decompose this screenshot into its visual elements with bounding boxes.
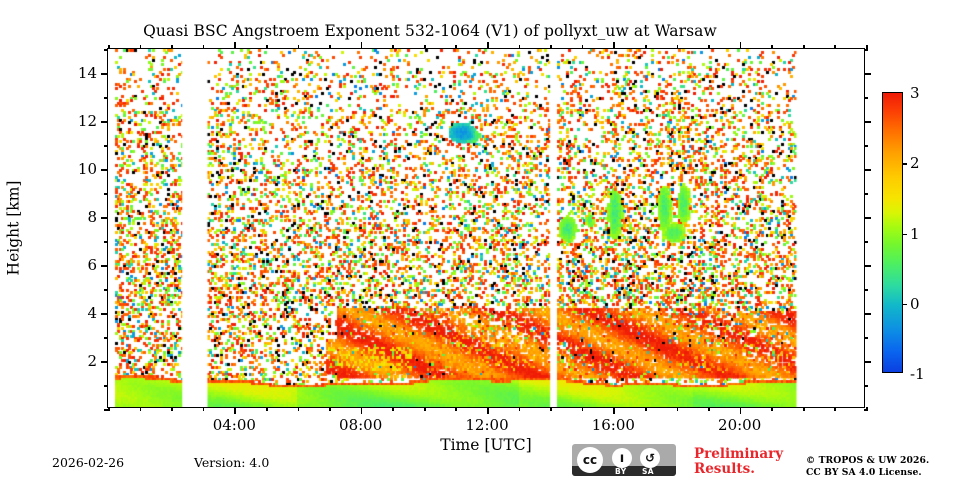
x-minor-tick [298, 407, 300, 411]
creative-commons-badge[interactable]: cc ı ↺ BY SA [572, 444, 676, 476]
y-major-tick-right [864, 361, 871, 363]
x-minor-tick-top [866, 45, 868, 49]
x-minor-tick [582, 407, 584, 411]
x-tick-label: 20:00 [718, 416, 761, 434]
x-minor-tick [803, 407, 805, 411]
x-minor-tick-top [803, 45, 805, 49]
x-minor-tick [140, 407, 142, 411]
x-minor-tick-top [645, 45, 647, 49]
x-minor-tick-top [455, 45, 457, 49]
copyright-notice: © TROPOS & UW 2026. CC BY SA 4.0 License… [806, 455, 929, 478]
colorbar-tick [902, 304, 907, 305]
chart-title: Quasi BSC Angstroem Exponent 532-1064 (V… [0, 22, 860, 40]
colorbar-tick-label: 0 [910, 295, 920, 313]
y-minor-tick-right [864, 145, 868, 147]
y-minor-tick-right [864, 241, 868, 243]
x-minor-tick [424, 407, 426, 411]
figure-canvas: Quasi BSC Angstroem Exponent 532-1064 (V… [0, 0, 960, 480]
x-minor-tick-top [708, 45, 710, 49]
footer-version: Version: 4.0 [194, 455, 269, 470]
copyright-line-2: CC BY SA 4.0 License. [806, 467, 929, 479]
colorbar-tick-label: -1 [910, 365, 925, 383]
x-major-tick [361, 407, 363, 414]
x-tick-label: 16:00 [592, 416, 635, 434]
x-major-tick-top [613, 42, 615, 49]
x-minor-tick-top [519, 45, 521, 49]
x-minor-tick [455, 407, 457, 411]
y-minor-tick [104, 193, 108, 195]
x-minor-tick [645, 407, 647, 411]
y-major-tick-right [864, 265, 871, 267]
y-minor-tick [104, 385, 108, 387]
cc-sa-label: SA [642, 467, 654, 476]
cc-logo-icon: cc [577, 447, 603, 473]
heatmap-clip [108, 49, 864, 407]
colorbar-tick-label: 1 [910, 225, 920, 243]
y-tick-label: 8 [87, 208, 97, 226]
x-minor-tick [392, 407, 394, 411]
x-major-tick-top [361, 42, 363, 49]
y-minor-tick-right [864, 193, 868, 195]
y-tick-label: 14 [78, 64, 97, 82]
copyright-line-1: © TROPOS & UW 2026. [806, 455, 929, 467]
y-major-tick-right [864, 169, 871, 171]
y-minor-tick [104, 289, 108, 291]
heatmap-canvas [108, 49, 864, 407]
y-major-tick-right [864, 73, 871, 75]
x-major-tick-top [234, 42, 236, 49]
x-major-tick [487, 407, 489, 414]
y-minor-tick [104, 241, 108, 243]
y-tick-label: 4 [87, 304, 97, 322]
x-minor-tick [171, 407, 173, 411]
x-minor-tick-top [424, 45, 426, 49]
y-major-tick [101, 361, 108, 363]
y-minor-tick [104, 145, 108, 147]
y-minor-tick [104, 337, 108, 339]
y-minor-tick-right [864, 289, 868, 291]
x-minor-tick [866, 407, 868, 411]
x-major-tick [740, 407, 742, 414]
colorbar-tick-label: 3 [910, 84, 920, 102]
x-minor-tick [519, 407, 521, 411]
x-minor-tick [203, 407, 205, 411]
x-tick-label: 04:00 [213, 416, 256, 434]
y-major-tick [101, 169, 108, 171]
x-minor-tick [771, 407, 773, 411]
x-major-tick [613, 407, 615, 414]
x-minor-tick-top [329, 45, 331, 49]
colorbar-tick [902, 234, 907, 235]
y-tick-label: 10 [78, 160, 97, 178]
y-major-tick-right [864, 121, 871, 123]
y-major-tick-right [864, 313, 871, 315]
x-major-tick-top [487, 42, 489, 49]
y-minor-tick-right [864, 49, 868, 51]
x-minor-tick [329, 407, 331, 411]
y-major-tick [101, 121, 108, 123]
x-minor-tick-top [203, 45, 205, 49]
x-tick-label: 08:00 [339, 416, 382, 434]
x-minor-tick-top [550, 45, 552, 49]
y-axis-title: Height [km] [0, 48, 26, 408]
y-minor-tick-right [864, 97, 868, 99]
y-minor-tick-right [864, 337, 868, 339]
colorbar-tick-label: 2 [910, 154, 920, 172]
y-major-tick [101, 73, 108, 75]
x-minor-tick-top [140, 45, 142, 49]
x-minor-tick [266, 407, 268, 411]
x-minor-tick-top [108, 45, 110, 49]
y-minor-tick [104, 97, 108, 99]
cc-sa-share-icon: ↺ [640, 448, 660, 468]
y-tick-label: 2 [87, 352, 97, 370]
x-minor-tick-top [171, 45, 173, 49]
y-minor-tick [104, 49, 108, 51]
x-major-tick-top [740, 42, 742, 49]
y-major-tick-right [864, 217, 871, 219]
x-minor-tick [834, 407, 836, 411]
x-tick-label: 12:00 [465, 416, 508, 434]
x-minor-tick-top [582, 45, 584, 49]
x-minor-tick-top [677, 45, 679, 49]
colorbar: -10123 [882, 92, 903, 373]
y-axis-title-label: Height [km] [4, 181, 22, 276]
y-tick-label: 6 [87, 256, 97, 274]
x-minor-tick-top [266, 45, 268, 49]
y-tick-label: 12 [78, 112, 97, 130]
y-minor-tick-right [864, 385, 868, 387]
cc-by-person-icon: ı [612, 448, 632, 468]
x-minor-tick-top [834, 45, 836, 49]
x-minor-tick [108, 407, 110, 411]
x-minor-tick-top [771, 45, 773, 49]
x-minor-tick-top [392, 45, 394, 49]
x-minor-tick [550, 407, 552, 411]
y-major-tick [101, 217, 108, 219]
plot-axes: 246810121404:0008:0012:0016:0020:00 [107, 48, 865, 408]
preliminary-line-2: Results. [694, 462, 783, 477]
x-minor-tick [677, 407, 679, 411]
y-major-tick [101, 265, 108, 267]
y-major-tick [101, 313, 108, 315]
footer-date: 2026-02-26 [52, 455, 124, 470]
x-major-tick [234, 407, 236, 414]
x-minor-tick-top [298, 45, 300, 49]
preliminary-line-1: Preliminary [694, 447, 783, 462]
colorbar-tick [902, 163, 907, 164]
x-minor-tick [708, 407, 710, 411]
cc-by-label: BY [615, 467, 627, 476]
preliminary-results-notice: Preliminary Results. [694, 447, 783, 476]
